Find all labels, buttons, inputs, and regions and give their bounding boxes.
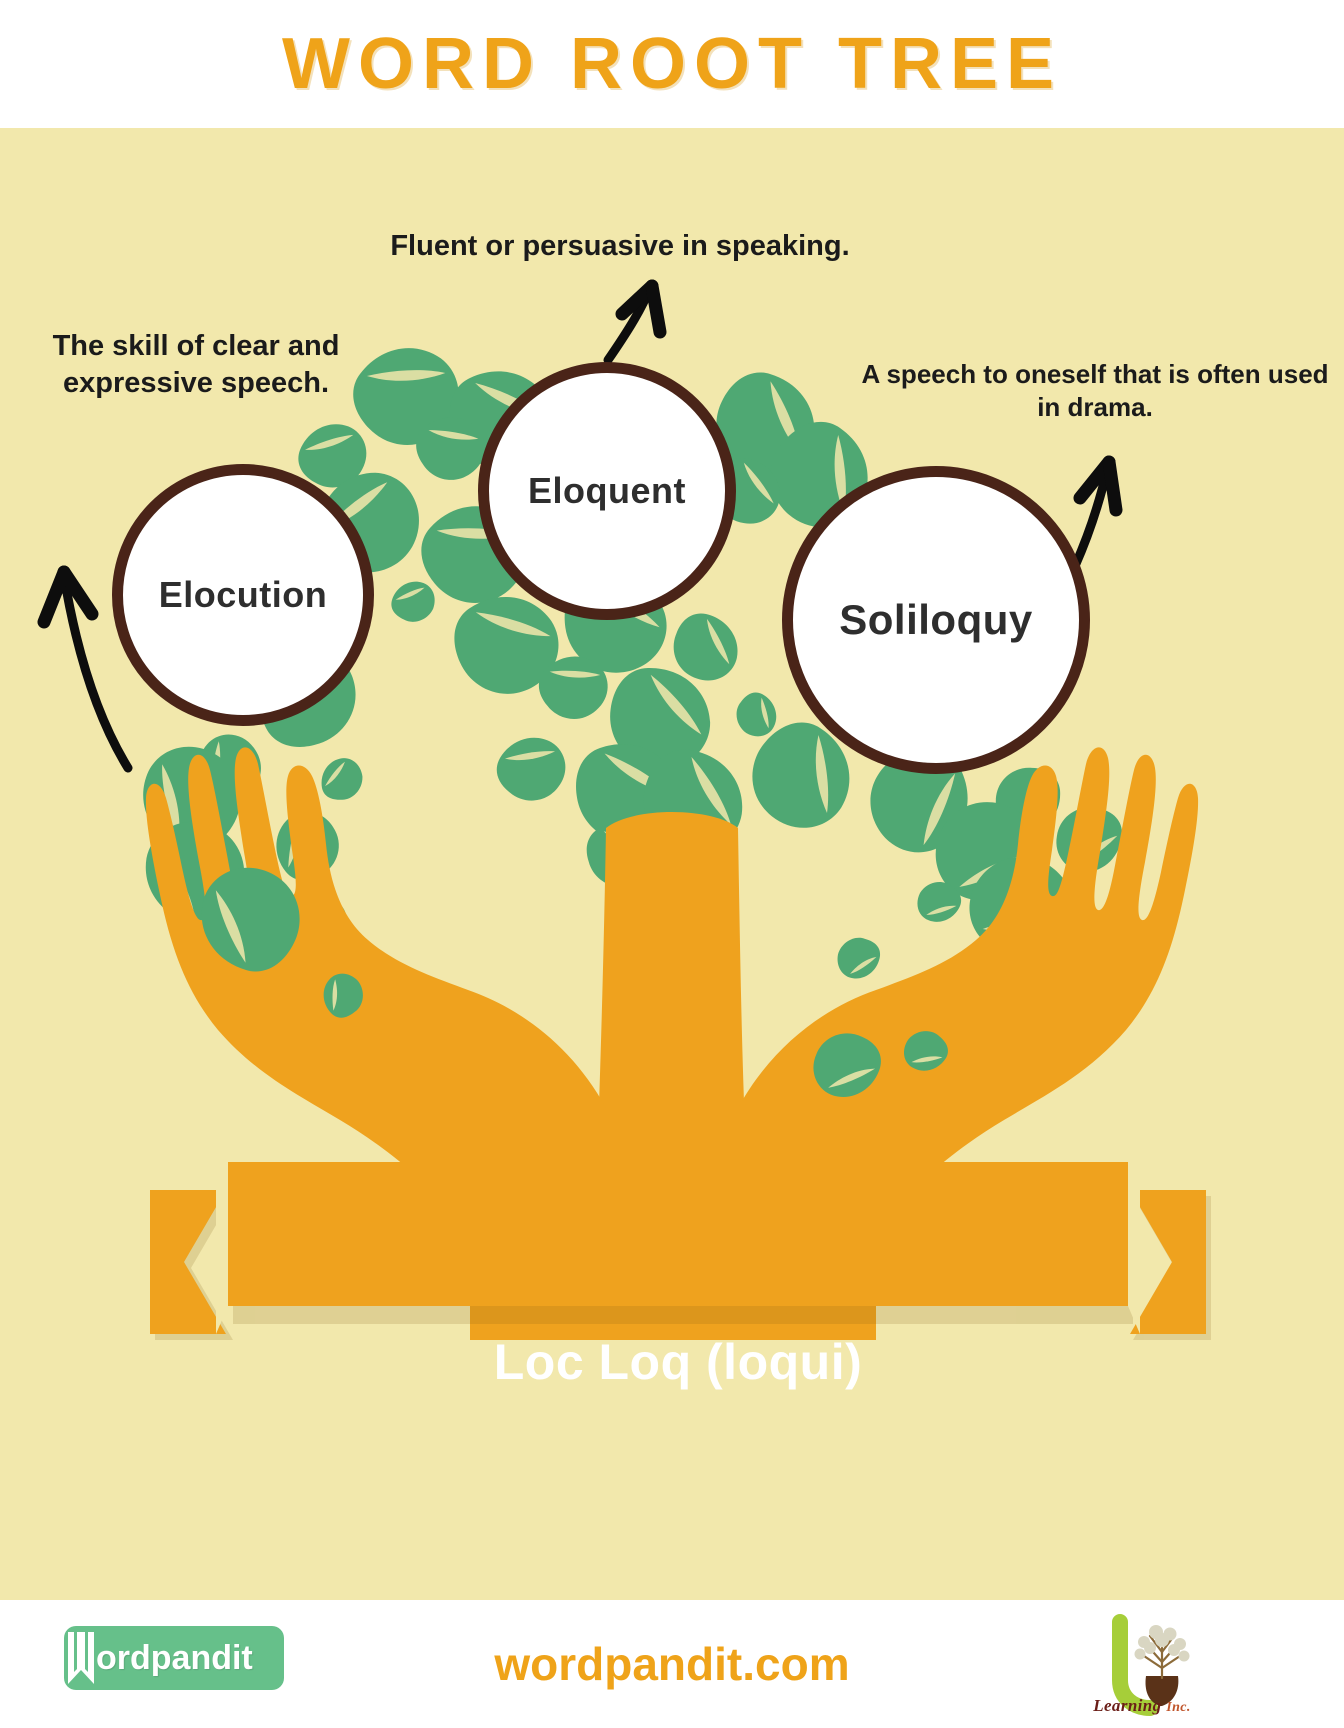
root-banner: Loc Loq (loqui): [228, 1290, 1128, 1434]
definition-elocution: The skill of clear and expressive speech…: [16, 328, 376, 402]
footer: ordpandit wordpandit.com Learning Inc.: [0, 1600, 1344, 1728]
page-title: WORD ROOT TREE: [282, 23, 1062, 105]
word-label-soliloquy: Soliloquy: [839, 596, 1033, 644]
infographic-panel: The skill of clear and expressive speech…: [0, 128, 1344, 1600]
learning-inc-wordmark: Learning Inc.: [1052, 1696, 1232, 1716]
learning-inc-name: Learning: [1093, 1696, 1161, 1715]
root-banner-label: Loc Loq (loqui): [228, 1290, 1128, 1434]
word-node-eloquent[interactable]: Eloquent: [478, 362, 736, 620]
word-label-eloquent: Eloquent: [528, 470, 686, 512]
infographic-page: WORD ROOT TREE: [0, 0, 1344, 1728]
word-node-soliloquy[interactable]: Soliloquy: [782, 466, 1090, 774]
title-bar: WORD ROOT TREE: [0, 0, 1344, 128]
word-label-elocution: Elocution: [159, 574, 328, 616]
definition-soliloquy: A speech to oneself that is often used i…: [860, 358, 1330, 425]
definition-eloquent: Fluent or persuasive in speaking.: [300, 228, 940, 265]
word-node-elocution[interactable]: Elocution: [112, 464, 374, 726]
learning-inc-suffix: Inc.: [1166, 1700, 1191, 1715]
